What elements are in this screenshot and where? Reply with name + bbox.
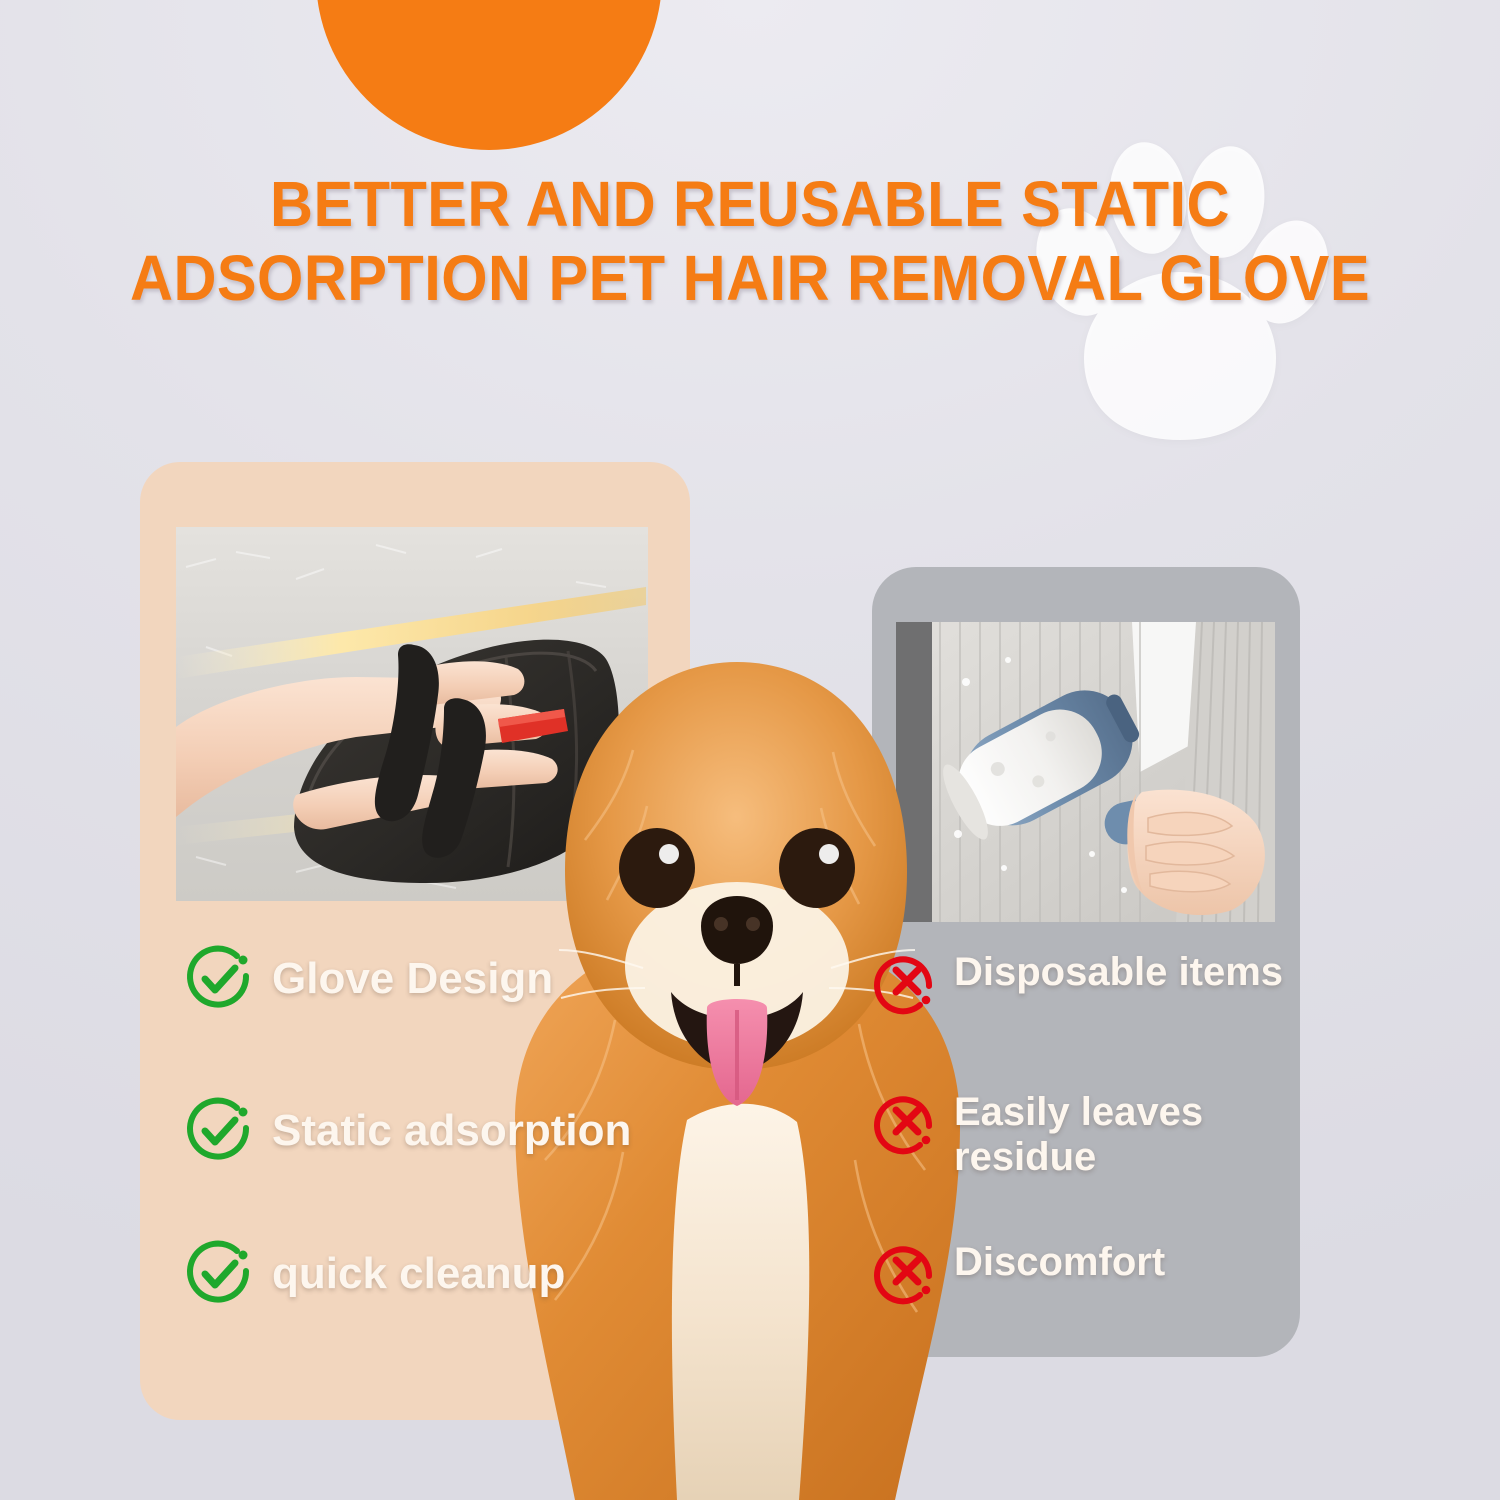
list-item-label: Glove Design [272, 954, 553, 1003]
list-item: Static adsorption [180, 1092, 631, 1170]
x-circle-icon [872, 1236, 942, 1306]
x-circle-icon [872, 1086, 942, 1156]
list-item-label: quick cleanup [272, 1249, 565, 1298]
pomeranian-dog-photo [455, 600, 1020, 1500]
list-item-label: Static adsorption [272, 1106, 631, 1155]
check-circle-icon [180, 940, 258, 1018]
orange-circle-decoration [316, 0, 662, 150]
list-item: Discomfort [872, 1240, 1165, 1306]
x-circle-icon [872, 946, 942, 1016]
infographic-root: BETTER AND REUSABLE STATIC ADSORPTION PE… [0, 0, 1500, 1500]
list-item: Disposable items [872, 950, 1283, 1016]
list-item-label: Disposable items [954, 950, 1283, 995]
list-item-label: Easily leaves residue [954, 1090, 1203, 1180]
list-item: quick cleanup [180, 1235, 565, 1313]
list-item-label: Discomfort [954, 1240, 1165, 1285]
check-circle-icon [180, 1092, 258, 1170]
check-circle-icon [180, 1235, 258, 1313]
page-title: BETTER AND REUSABLE STATIC ADSORPTION PE… [53, 168, 1448, 315]
list-item: Glove Design [180, 940, 553, 1018]
list-item: Easily leaves residue [872, 1090, 1203, 1180]
